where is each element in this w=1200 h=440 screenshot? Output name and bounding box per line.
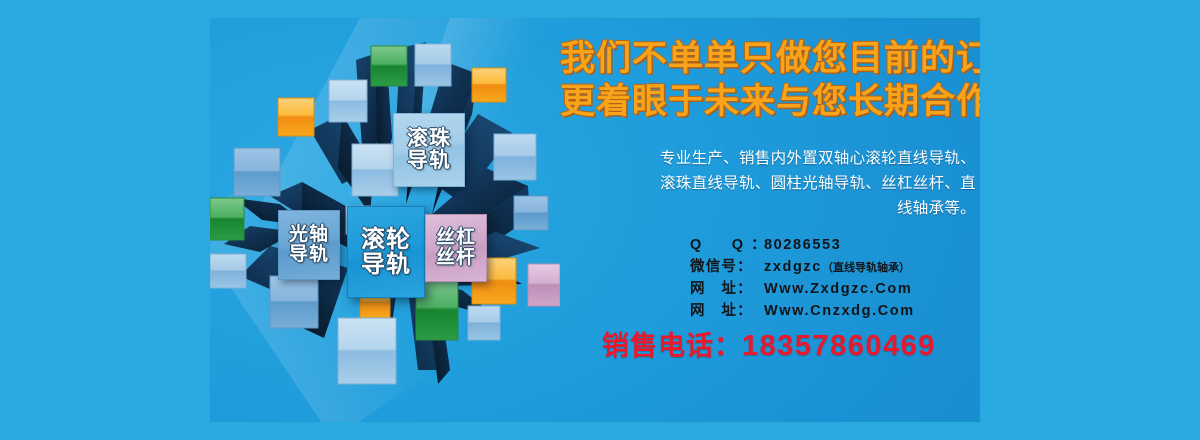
contact-label-wechat: 微信号： [690,255,764,276]
product-label-line1: 光轴 [289,225,329,245]
contact-value-qq[interactable]: 80286553 [764,237,841,253]
contact-row-website-1: 网 址： Www.Zxdgzc.Com [690,277,980,299]
product-label-line2: 导轨 [407,150,451,172]
subtitle-line-1: 专业生产、销售内外置双轴心滚轮直线导轨、 [564,146,976,171]
contact-row-wechat: 微信号： zxdgzc （直线导轨轴承） [690,255,980,277]
sales-phone-number[interactable]: 18357860469 [742,330,936,362]
product-label-line1: 丝杠 [436,228,476,248]
headline-line-2: 更着眼于未来与您长期合作 [560,81,978,124]
product-label-line2: 丝杆 [436,248,476,268]
contact-row-website-2: 网 址： Www.Cnzxdg.Com [690,299,980,321]
banner-stage: 滚珠 导轨 光轴 导轨 滚轮 导轨 丝杠 丝杆 我们不单单只做您目前的订单 更着… [0,0,1200,440]
product-label-line2: 导轨 [289,245,329,265]
contact-label-website-1: 网 址： [690,277,764,298]
contact-block: Q Q： 80286553 微信号： zxdgzc （直线导轨轴承） 网 址： … [690,233,980,321]
headline: 我们不单单只做您目前的订单 更着眼于未来与您长期合作 [560,38,978,123]
contact-value-website-2[interactable]: Www.Cnzxdg.Com [764,303,915,319]
product-label-line1: 滚轮 [361,227,411,252]
contact-value-wechat[interactable]: zxdgzc [764,259,822,275]
banner-copy-column: 我们不单单只做您目前的订单 更着眼于未来与您长期合作 专业生产、销售内外置双轴心… [550,18,980,422]
product-label-gunzhu-daogui: 滚珠 导轨 [393,113,465,187]
subtitle-line-3: 线轴承等。 [564,196,976,221]
headline-line-1: 我们不单单只做您目前的订单 [560,38,978,81]
contact-note-wechat: （直线导轨轴承） [822,259,910,275]
subtitle: 专业生产、销售内外置双轴心滚轮直线导轨、 滚珠直线导轨、圆柱光轴导轨、丝杠丝杆、… [564,146,976,221]
product-label-line1: 滚珠 [407,128,451,150]
promo-banner: 滚珠 导轨 光轴 导轨 滚轮 导轨 丝杠 丝杆 我们不单单只做您目前的订单 更着… [210,18,980,422]
sales-phone-label: 销售电话： [602,331,742,361]
subtitle-line-2: 滚珠直线导轨、圆柱光轴导轨、丝杠丝杆、直 [564,171,976,196]
contact-row-qq: Q Q： 80286553 [690,233,980,255]
product-label-guangzhou-daogui: 光轴 导轨 [278,210,340,280]
contact-label-website-2: 网 址： [690,299,764,320]
contact-value-website-1[interactable]: Www.Zxdgzc.Com [764,281,912,297]
sales-phone[interactable]: 销售电话：18357860469 [602,324,936,363]
product-label-line2: 导轨 [361,252,411,277]
product-label-gunlun-daogui: 滚轮 导轨 [347,206,425,298]
contact-label-qq: Q Q： [690,233,764,254]
product-label-sigang-sigan: 丝杠 丝杆 [425,214,487,282]
